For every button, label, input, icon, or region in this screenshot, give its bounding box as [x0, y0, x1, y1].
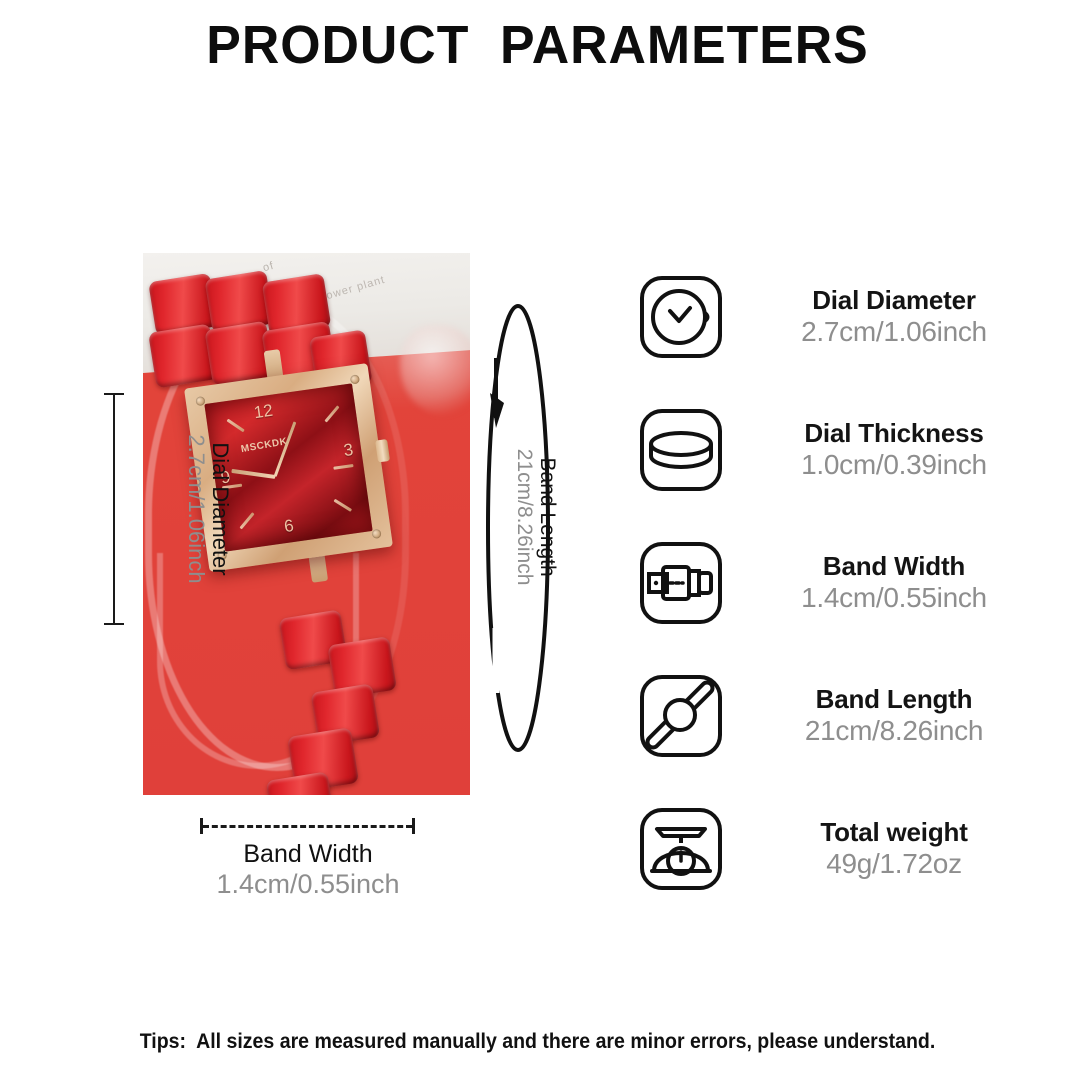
spec-text-dial-thickness: Dial Thickness 1.0cm/0.39inch [725, 418, 1055, 482]
spec-value-band-length: 21cm/8.26inch [733, 714, 1055, 747]
band-width-annotation: Band Width 1.4cm/0.55inch [143, 840, 473, 900]
page-title: PRODUCT PARAMETERS [22, 14, 1054, 76]
photo-background: of flower plant [143, 253, 470, 795]
spec-label-band-length: Band Length [733, 684, 1055, 715]
spec-row-band-length: Band Length 21cm/8.26inch [625, 649, 1055, 782]
watch-buckle-icon [637, 539, 725, 627]
dial-diameter-dim-line [113, 393, 115, 625]
band-width-dim-dashes [203, 825, 412, 828]
dial-numeral-12: 12 [253, 401, 275, 423]
spec-row-total-weight: Total weight 49g/1.72oz [625, 782, 1055, 915]
spec-value-total-weight: 49g/1.72oz [733, 847, 1055, 880]
blurred-prop-object [400, 325, 470, 415]
spec-row-dial-thickness: Dial Thickness 1.0cm/0.39inch [625, 383, 1055, 516]
spec-label-dial-thickness: Dial Thickness [733, 418, 1055, 449]
watch-dial-icon [637, 273, 725, 361]
spec-value-dial-thickness: 1.0cm/0.39inch [733, 448, 1055, 481]
disc-thickness-icon [637, 406, 725, 494]
watch-strap-lower [279, 589, 470, 795]
dial-diameter-dim-cap-bottom [104, 623, 124, 625]
band-length-annotation: Band Length 21cm/8.26inch [482, 298, 554, 758]
band-width-annotation-label: Band Width [143, 840, 473, 869]
product-photo: of flower plant [143, 253, 470, 795]
band-length-annotation-value: 21cm/8.26inch [513, 449, 536, 586]
spec-label-band-width: Band Width [733, 551, 1055, 582]
spec-text-band-length: Band Length 21cm/8.26inch [725, 684, 1055, 748]
band-length-annotation-label: Band Length [536, 458, 559, 577]
spec-text-total-weight: Total weight 49g/1.72oz [725, 817, 1055, 881]
band-width-dim-cap-right [412, 818, 415, 834]
watch-case-bezel: 12 3 6 9 MSCKDK [184, 363, 393, 572]
kitchen-scale-icon [637, 805, 725, 893]
spec-value-band-width: 1.4cm/0.55inch [733, 581, 1055, 614]
spec-row-band-width: Band Width 1.4cm/0.55inch [625, 516, 1055, 649]
dial-numeral-6: 6 [283, 516, 295, 537]
spec-list: Dial Diameter 2.7cm/1.06inch Dial Thickn… [625, 250, 1055, 915]
watch-hour-hand [231, 469, 275, 479]
spec-value-dial-diameter: 2.7cm/1.06inch [733, 315, 1055, 348]
band-length-annotation-text: Band Length 21cm/8.26inch [513, 287, 559, 747]
watch-minute-hand [274, 421, 297, 477]
spec-label-total-weight: Total weight [733, 817, 1055, 848]
spec-label-dial-diameter: Dial Diameter [733, 285, 1055, 316]
band-width-annotation-value: 1.4cm/0.55inch [143, 869, 473, 900]
watch-case: 12 3 6 9 MSCKDK [184, 363, 393, 572]
watch-strap-diagonal-icon [637, 672, 725, 760]
spec-text-dial-diameter: Dial Diameter 2.7cm/1.06inch [725, 285, 1055, 349]
band-width-dim-line [200, 818, 415, 834]
dial-numeral-3: 3 [342, 440, 354, 461]
footer-tips: Tips: All sizes are measured manually an… [38, 1030, 1038, 1054]
spec-row-dial-diameter: Dial Diameter 2.7cm/1.06inch [625, 250, 1055, 383]
watch-dial: 12 3 6 9 MSCKDK [204, 383, 372, 551]
spec-text-band-width: Band Width 1.4cm/0.55inch [725, 551, 1055, 615]
